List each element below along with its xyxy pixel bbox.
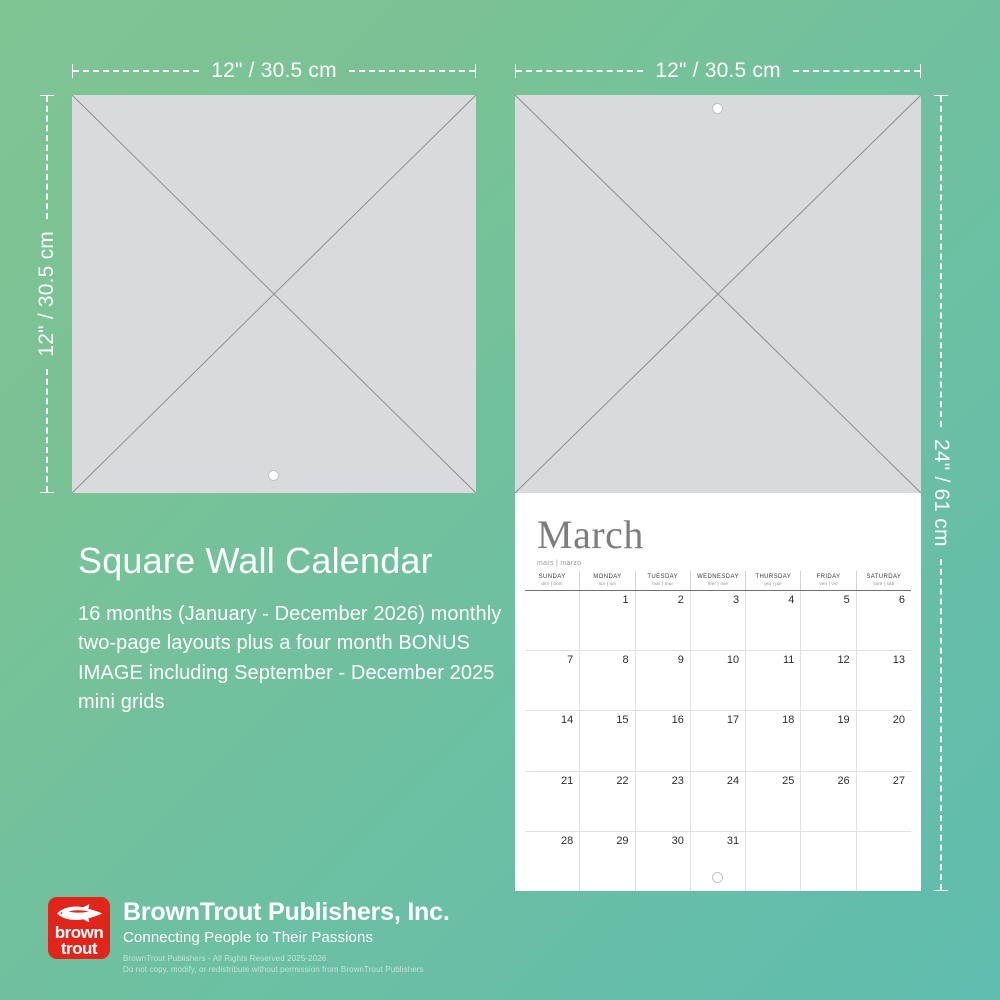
day-number: 19: [837, 714, 849, 726]
dimension-dash-right: [793, 70, 920, 72]
calendar-day-cell[interactable]: 4: [745, 591, 800, 650]
day-number: 1: [622, 594, 628, 606]
dimension-right-width-label: 12" / 30.5 cm: [643, 59, 793, 83]
calendar-day-cell[interactable]: 9: [635, 651, 690, 710]
hole-punch-icon: [712, 872, 723, 883]
page-title: Square Wall Calendar: [78, 540, 433, 582]
weekday-name: SUNDAY: [525, 574, 579, 580]
weekday-translations: mer | mié: [691, 581, 745, 586]
publisher-name: BrownTrout Publishers, Inc.: [123, 899, 450, 927]
calendar-day-cell[interactable]: 20: [856, 711, 911, 770]
footer-text-block: BrownTrout Publishers, Inc. Connecting P…: [123, 897, 450, 976]
calendar-day-cell[interactable]: 27: [856, 772, 911, 831]
legal-line-1: BrownTrout Publishers - All Rights Reser…: [123, 953, 450, 965]
dimension-right-height: 24" / 61 cm: [930, 95, 952, 891]
weekday-name: SATURDAY: [857, 574, 911, 580]
day-number: 4: [788, 594, 794, 606]
weekday-name: FRIDAY: [801, 574, 855, 580]
weekday-translations: dim | dom: [525, 581, 579, 586]
legal-line-2: Do not copy, modify, or redistribute wit…: [123, 964, 450, 976]
calendar-day-cell[interactable]: 24: [690, 772, 745, 831]
product-description: 16 months (January - December 2026) mont…: [78, 600, 510, 718]
day-number: 21: [561, 775, 573, 787]
calendar-day-cell[interactable]: 13: [856, 651, 911, 710]
weekday-name: TUESDAY: [636, 574, 690, 580]
calendar-weekday-thursday: THURSDAYjeu | jue: [745, 571, 800, 590]
day-number: 2: [678, 594, 684, 606]
calendar-week-row: 14151617181920: [525, 711, 911, 771]
calendar-day-cell[interactable]: 3: [690, 591, 745, 650]
calendar-day-cell[interactable]: 8: [579, 651, 634, 710]
weekday-name: MONDAY: [580, 574, 634, 580]
calendar-weekday-wednesday: WEDNESDAYmer | mié: [690, 571, 745, 590]
day-number: 26: [837, 775, 849, 787]
calendar-day-cell[interactable]: 5: [800, 591, 855, 650]
day-number: 10: [727, 654, 739, 666]
day-number: 5: [844, 594, 850, 606]
calendar-day-cell[interactable]: 10: [690, 651, 745, 710]
hole-punch-icon: [268, 470, 279, 481]
dimension-dash-left: [516, 70, 643, 72]
calendar-day-cell[interactable]: 1: [579, 591, 634, 650]
weekday-translations: sam | sáb: [857, 581, 911, 586]
calendar-day-cell[interactable]: 6: [856, 591, 911, 650]
calendar-empty-cell: [745, 832, 800, 891]
day-number: 11: [783, 654, 794, 666]
dimension-dash-top: [940, 96, 942, 427]
calendar-week-row: 21222324252627: [525, 772, 911, 832]
calendar-week-row: 78910111213: [525, 651, 911, 711]
calendar-month-subtitle: mars | marzo: [537, 560, 921, 567]
legal-notice: BrownTrout Publishers - All Rights Reser…: [123, 953, 450, 976]
dimension-cap-end: [934, 890, 948, 891]
calendar-grid: SUNDAYdim | domMONDAYlun | lunTUESDAYmar…: [515, 571, 921, 891]
day-number: 20: [893, 714, 905, 726]
day-number: 27: [893, 775, 905, 787]
calendar-day-cell[interactable]: 17: [690, 711, 745, 770]
day-number: 7: [567, 654, 573, 666]
weekday-translations: lun | lun: [580, 581, 634, 586]
trout-fish-icon: [53, 903, 105, 923]
dimension-cap-end: [40, 492, 54, 493]
weekday-translations: jeu | jue: [746, 581, 800, 586]
calendar-day-cell[interactable]: 23: [635, 772, 690, 831]
day-number: 28: [561, 835, 573, 847]
calendar-day-cell[interactable]: 29: [579, 832, 634, 891]
dimension-dash-left: [73, 70, 199, 72]
calendar-day-cell[interactable]: 11: [745, 651, 800, 710]
day-number: 3: [733, 594, 739, 606]
calendar-day-cell[interactable]: 19: [800, 711, 855, 770]
hole-punch-icon: [712, 103, 723, 114]
calendar-weekday-saturday: SATURDAYsam | sáb: [856, 571, 911, 590]
dimension-left-height-label: 12" / 30.5 cm: [35, 219, 59, 369]
dimension-dash-right: [349, 70, 475, 72]
right-image-placeholder: [515, 95, 921, 493]
calendar-day-cell[interactable]: 2: [635, 591, 690, 650]
calendar-day-cell[interactable]: 28: [525, 832, 579, 891]
day-number: 18: [782, 714, 794, 726]
day-number: 6: [899, 594, 905, 606]
calendar-empty-cell: [800, 832, 855, 891]
calendar-day-cell[interactable]: 16: [635, 711, 690, 770]
calendar-header: March mars | marzo: [515, 493, 921, 571]
calendar-day-cell[interactable]: 30: [635, 832, 690, 891]
browntrout-logo: brown trout: [48, 897, 110, 959]
calendar-day-cell[interactable]: 12: [800, 651, 855, 710]
calendar-empty-cell: [856, 832, 911, 891]
dimension-dash-bottom: [940, 559, 942, 890]
calendar-weekday-sunday: SUNDAYdim | dom: [525, 571, 579, 590]
dimension-left-width-label: 12" / 30.5 cm: [199, 59, 349, 83]
day-number: 23: [672, 775, 684, 787]
day-number: 9: [678, 654, 684, 666]
day-number: 24: [727, 775, 739, 787]
day-number: 15: [616, 714, 628, 726]
weekday-translations: ven | vie: [801, 581, 855, 586]
day-number: 25: [782, 775, 794, 787]
calendar-day-cell[interactable]: 22: [579, 772, 634, 831]
dimension-cap-end: [920, 64, 921, 78]
calendar-empty-cell: [525, 591, 579, 650]
weekday-translations: mar | mar: [636, 581, 690, 586]
day-number: 12: [837, 654, 849, 666]
dimension-right-height-label: 24" / 61 cm: [929, 427, 953, 559]
day-number: 13: [893, 654, 905, 666]
day-number: 30: [672, 835, 684, 847]
dimension-cap-end: [475, 64, 476, 78]
day-number: 16: [672, 714, 684, 726]
footer: brown trout BrownTrout Publishers, Inc. …: [48, 897, 450, 976]
calendar-week-row: 123456: [525, 591, 911, 651]
calendar-day-cell[interactable]: 21: [525, 772, 579, 831]
dimension-left-width: 12" / 30.5 cm: [72, 60, 476, 82]
logo-word-trout: trout: [61, 941, 97, 957]
calendar-weeks: 1234567891011121314151617181920212223242…: [525, 591, 911, 891]
dimension-dash-top: [46, 96, 48, 219]
day-number: 31: [727, 835, 739, 847]
placeholder-x-lines: [72, 95, 476, 493]
day-number: 17: [727, 714, 739, 726]
dimension-right-width: 12" / 30.5 cm: [515, 60, 921, 82]
calendar-day-cell[interactable]: 7: [525, 651, 579, 710]
calendar-weekday-friday: FRIDAYven | vie: [800, 571, 855, 590]
dimension-dash-bottom: [46, 369, 48, 492]
calendar-weekday-header: SUNDAYdim | domMONDAYlun | lunTUESDAYmar…: [525, 571, 911, 591]
weekday-name: WEDNESDAY: [691, 574, 745, 580]
calendar-weekday-tuesday: TUESDAYmar | mar: [635, 571, 690, 590]
publisher-tagline: Connecting People to Their Passions: [123, 929, 450, 946]
calendar-day-cell[interactable]: 15: [579, 711, 634, 770]
calendar-day-cell[interactable]: 25: [745, 772, 800, 831]
calendar-day-cell[interactable]: 18: [745, 711, 800, 770]
weekday-name: THURSDAY: [746, 574, 800, 580]
day-number: 22: [616, 775, 628, 787]
day-number: 14: [561, 714, 573, 726]
placeholder-x-lines: [515, 95, 921, 493]
day-number: 8: [622, 654, 628, 666]
calendar-day-cell[interactable]: 26: [800, 772, 855, 831]
calendar-weekday-monday: MONDAYlun | lun: [579, 571, 634, 590]
calendar-month-title: March: [537, 515, 921, 555]
dimension-left-height: 12" / 30.5 cm: [36, 95, 58, 493]
calendar-page: March mars | marzo SUNDAYdim | domMONDAY…: [515, 493, 921, 891]
calendar-day-cell[interactable]: 14: [525, 711, 579, 770]
day-number: 29: [616, 835, 628, 847]
left-image-placeholder: [72, 95, 476, 493]
